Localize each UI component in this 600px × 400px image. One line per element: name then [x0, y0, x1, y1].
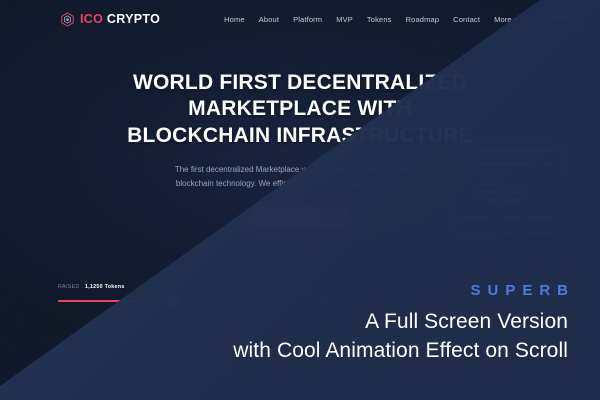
promo-overlay-text: SUPERB A Full Screen Version with Cool A… [233, 282, 568, 366]
promo-line-2: with Cool Animation Effect on Scroll [233, 337, 568, 366]
nav-link-list: Home About Platform MVP Tokens Roadmap C… [224, 15, 518, 24]
brand-logo[interactable]: ICO CRYPTO [60, 12, 160, 27]
promo-kicker: SUPERB [233, 282, 575, 299]
nav-link-roadmap[interactable]: Roadmap [406, 15, 440, 24]
raised-key: RAISED : [58, 284, 83, 290]
hexagon-logo-icon [60, 12, 75, 27]
nav-link-contact[interactable]: Contact [453, 15, 480, 24]
nav-link-about[interactable]: About [259, 15, 279, 24]
raised-value: 1,1250 Tokens [85, 284, 125, 290]
promo-line-1: A Full Screen Version [233, 308, 568, 337]
nav-link-platform[interactable]: Platform [293, 15, 322, 24]
screenshot-stage: ICO CRYPTO Home About Platform MVP Token… [0, 0, 600, 400]
nav-link-mvp[interactable]: MVP [336, 15, 353, 24]
brand-text-secondary: CRYPTO [107, 12, 160, 26]
nav-link-home[interactable]: Home [224, 15, 245, 24]
nav-link-tokens[interactable]: Tokens [367, 15, 392, 24]
brand-wordmark: ICO CRYPTO [80, 12, 160, 26]
brand-text-primary: ICO [80, 12, 103, 26]
